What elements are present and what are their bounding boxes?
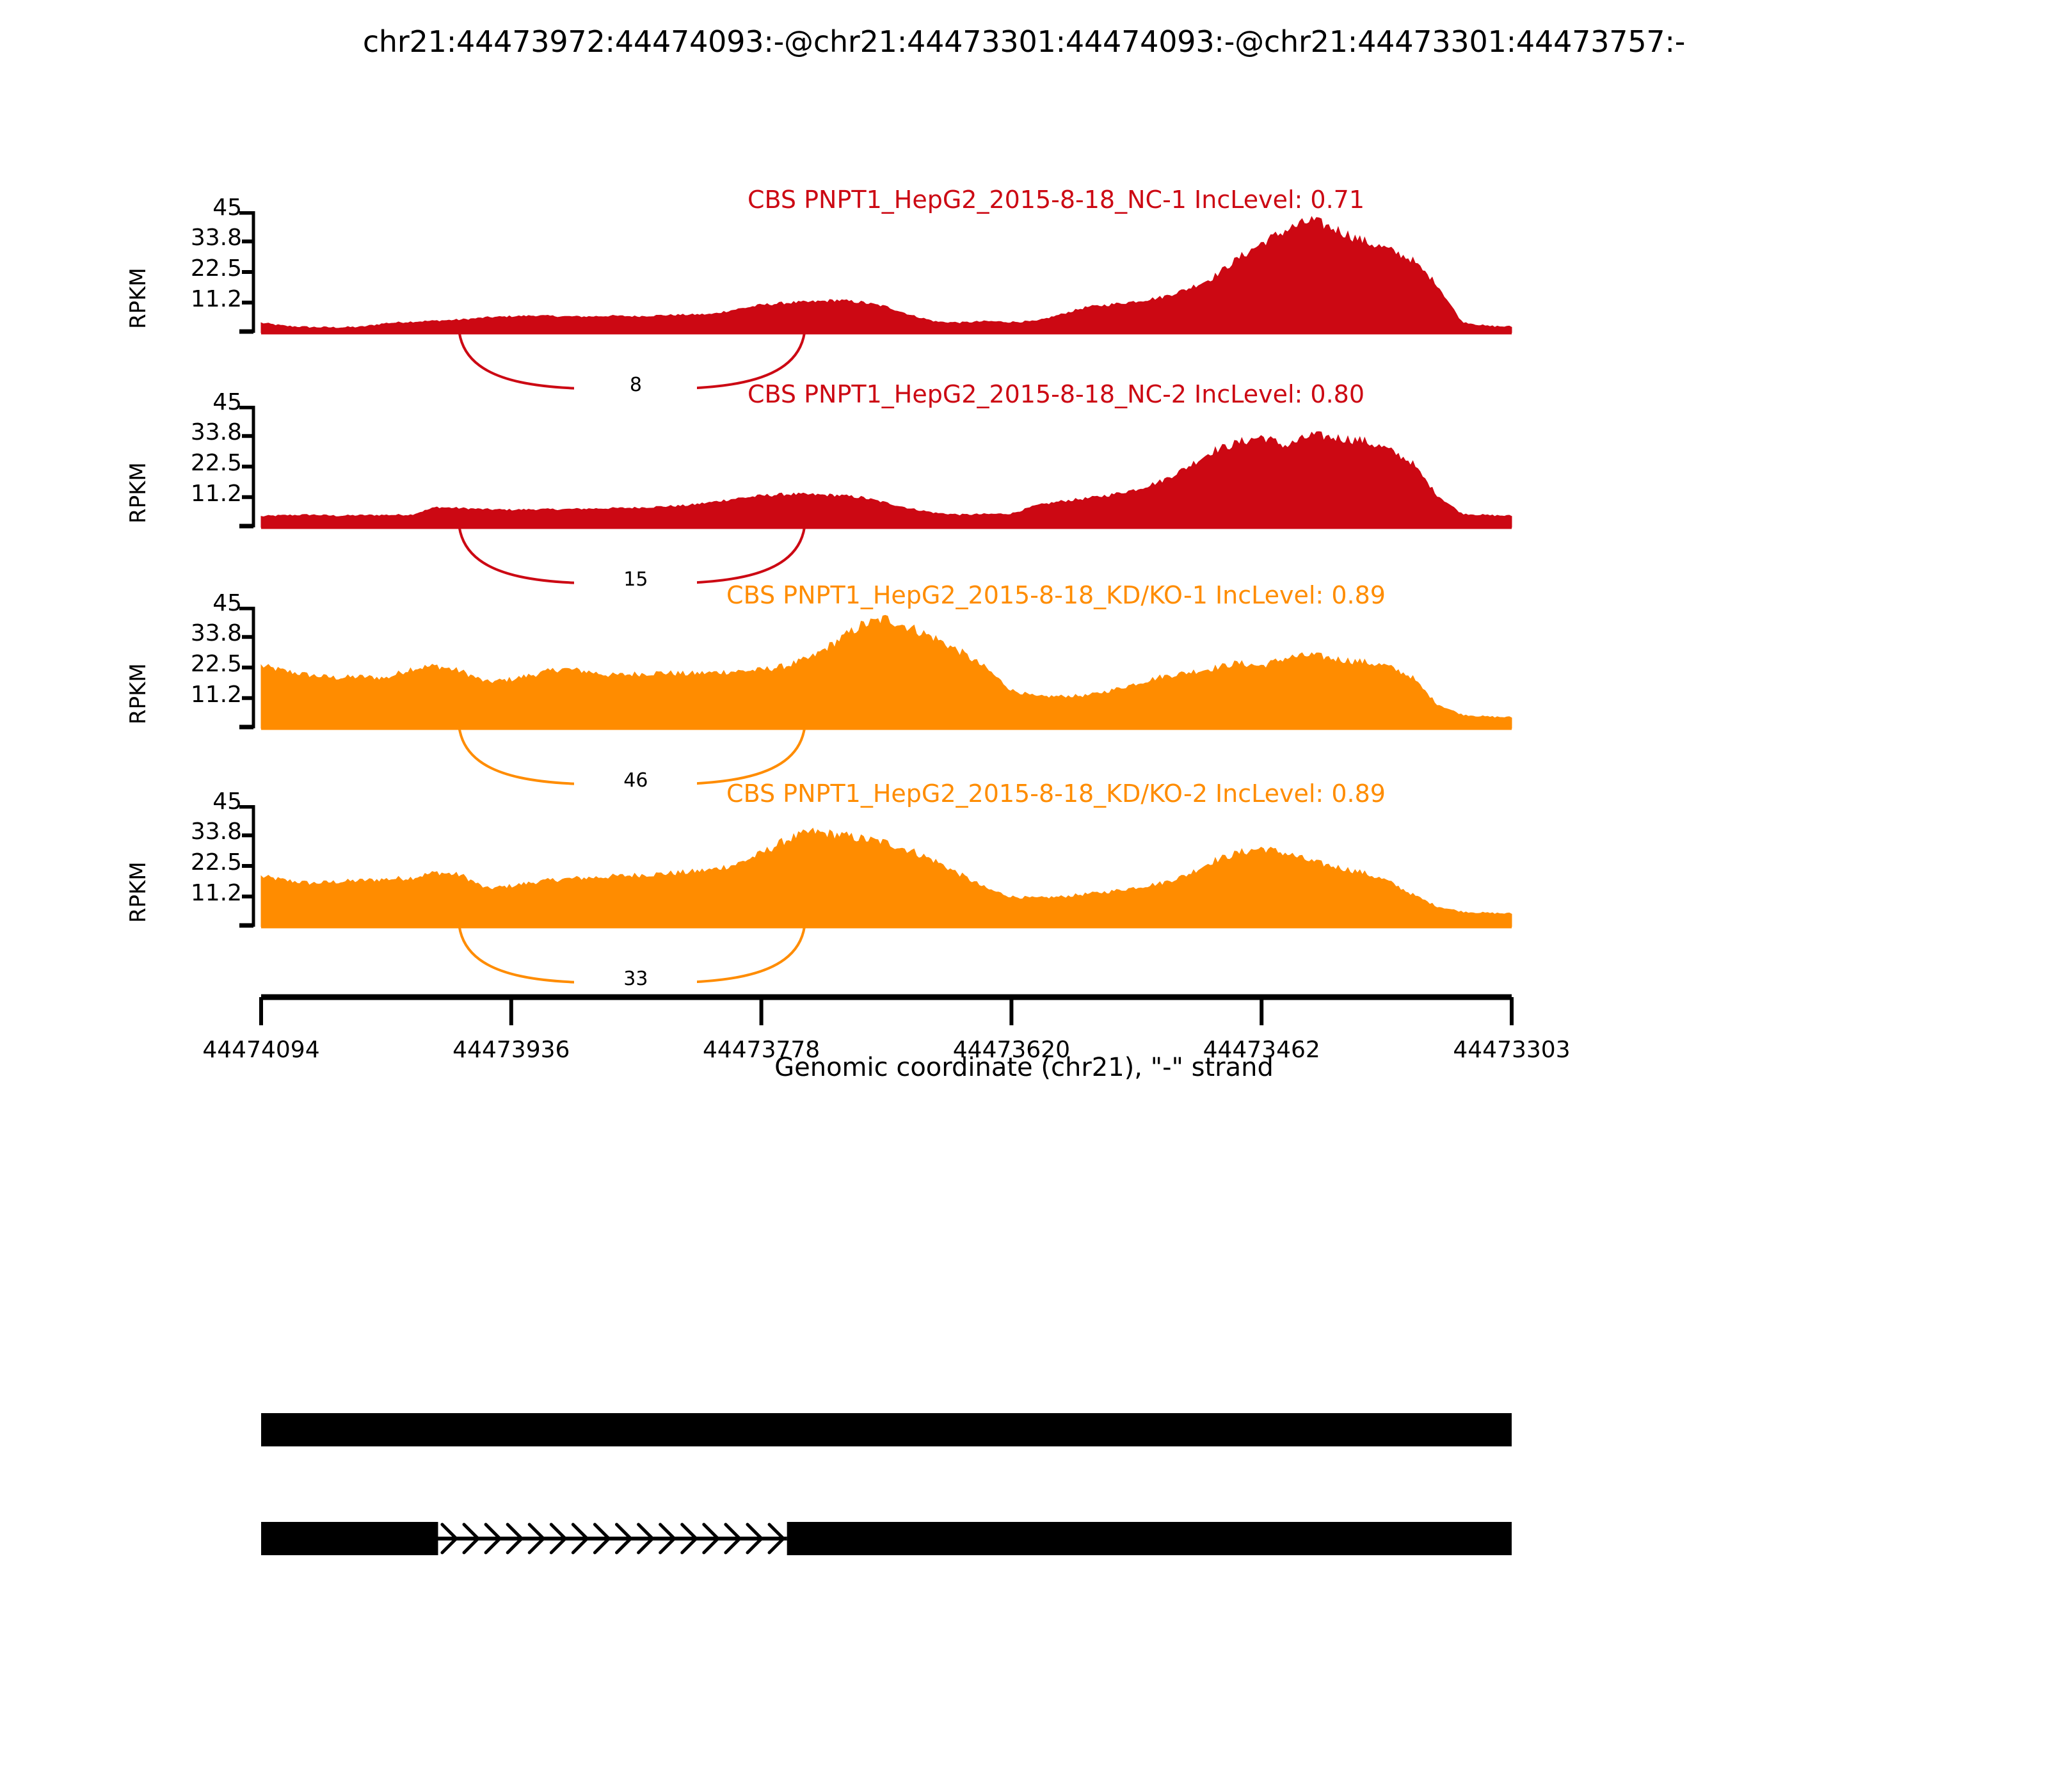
gene-model-diagram xyxy=(0,1331,2048,1600)
coverage-track-2: RPKM4533.822.511.2CBS PNPT1_HepG2_2015-8… xyxy=(0,380,2048,616)
track-title-3: CBS PNPT1_HepG2_2015-8-18_KD/KO-1 IncLev… xyxy=(576,581,1536,609)
track-title-2: CBS PNPT1_HepG2_2015-8-18_NC-2 IncLevel:… xyxy=(576,380,1536,408)
track-title-1: CBS PNPT1_HepG2_2015-8-18_NC-1 IncLevel:… xyxy=(576,186,1536,214)
x-axis: 4447409444473936444737784447362044473462… xyxy=(0,986,2048,1114)
coverage-track-4: RPKM4533.822.511.2CBS PNPT1_HepG2_2015-8… xyxy=(0,780,2048,1015)
page-title: chr21:44473972:44474093:-@chr21:44473301… xyxy=(0,24,2048,59)
x-axis-title: Genomic coordinate (chr21), "-" strand xyxy=(0,1053,2048,1082)
track-title-4: CBS PNPT1_HepG2_2015-8-18_KD/KO-2 IncLev… xyxy=(576,780,1536,808)
gene-model-panel xyxy=(0,1331,2048,1600)
gene-model-isoform-skipping xyxy=(261,1522,1512,1555)
gene-model-isoform-inclusion xyxy=(261,1413,1512,1446)
sashimi-plot-figure: chr21:44473972:44474093:-@chr21:44473301… xyxy=(0,0,2048,1792)
